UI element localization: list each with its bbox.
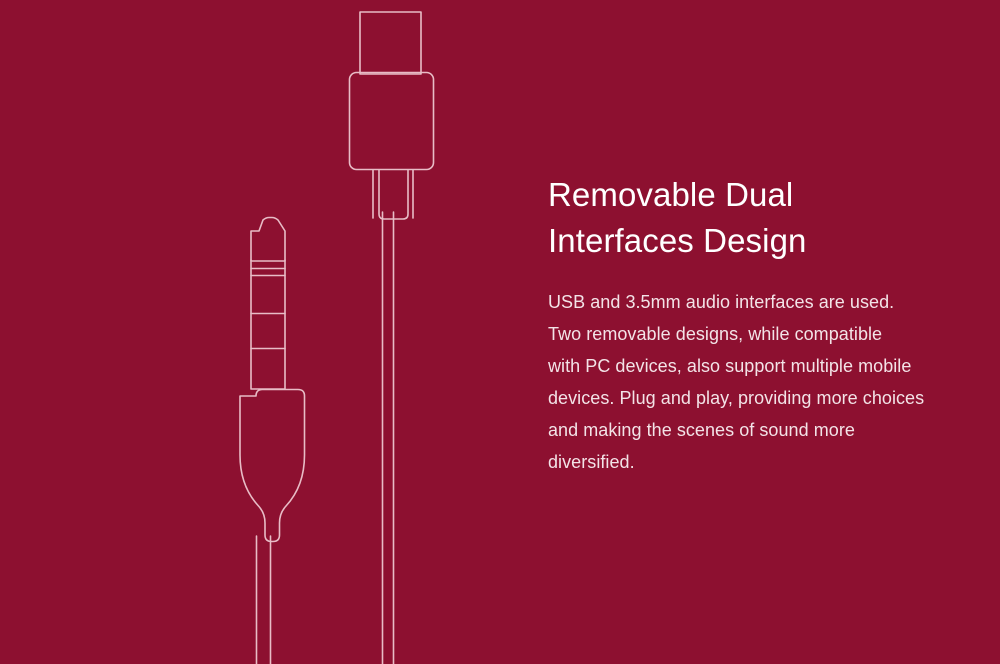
jack-barrel-shape — [240, 390, 305, 542]
usb-connector-icon — [350, 12, 434, 664]
page-title: Removable Dual Interfaces Design — [548, 172, 986, 264]
body-description: USB and 3.5mm audio interfaces are used.… — [548, 264, 986, 478]
jack-tip-shape — [251, 218, 285, 262]
copy-block: Removable Dual Interfaces Design USB and… — [548, 172, 986, 478]
promo-banner: Removable Dual Interfaces Design USB and… — [0, 0, 1000, 664]
usb-tip-shape — [360, 12, 421, 74]
audio-jack-icon — [240, 218, 305, 664]
usb-body-shape — [350, 73, 434, 170]
jack-shaft-shape — [251, 260, 285, 389]
